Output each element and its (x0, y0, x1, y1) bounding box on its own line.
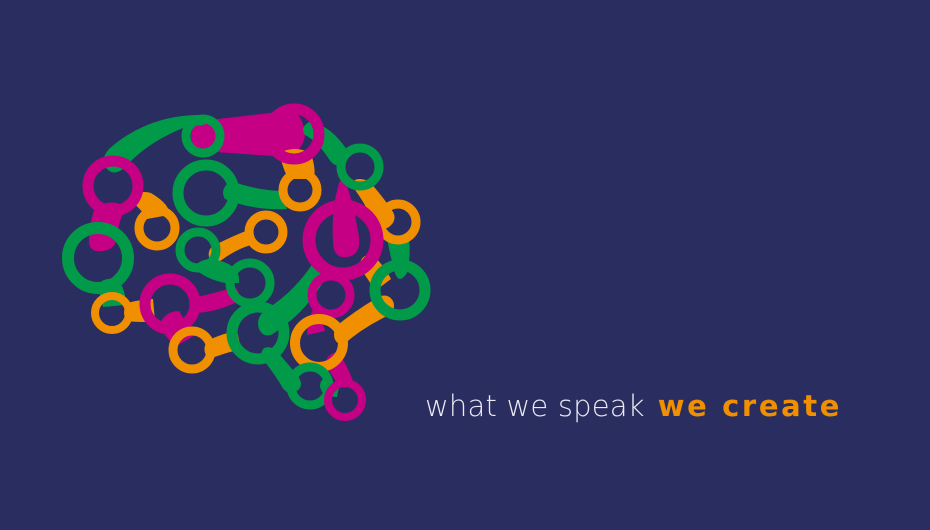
splash-screen: what we speak we create (0, 0, 930, 530)
brain-logo-svg (55, 95, 445, 435)
logo-node-n22 (328, 383, 362, 417)
link-n4-n14 (333, 179, 360, 257)
brain-network-logo (55, 95, 445, 435)
tagline-accent-text: we create (658, 389, 842, 423)
logo-node-n18 (232, 307, 284, 359)
tagline-light-text: what we speak (425, 389, 645, 423)
tagline: what we speak we create (425, 389, 842, 429)
logo-node-n19 (312, 276, 350, 314)
logo-node-n12 (249, 215, 283, 249)
